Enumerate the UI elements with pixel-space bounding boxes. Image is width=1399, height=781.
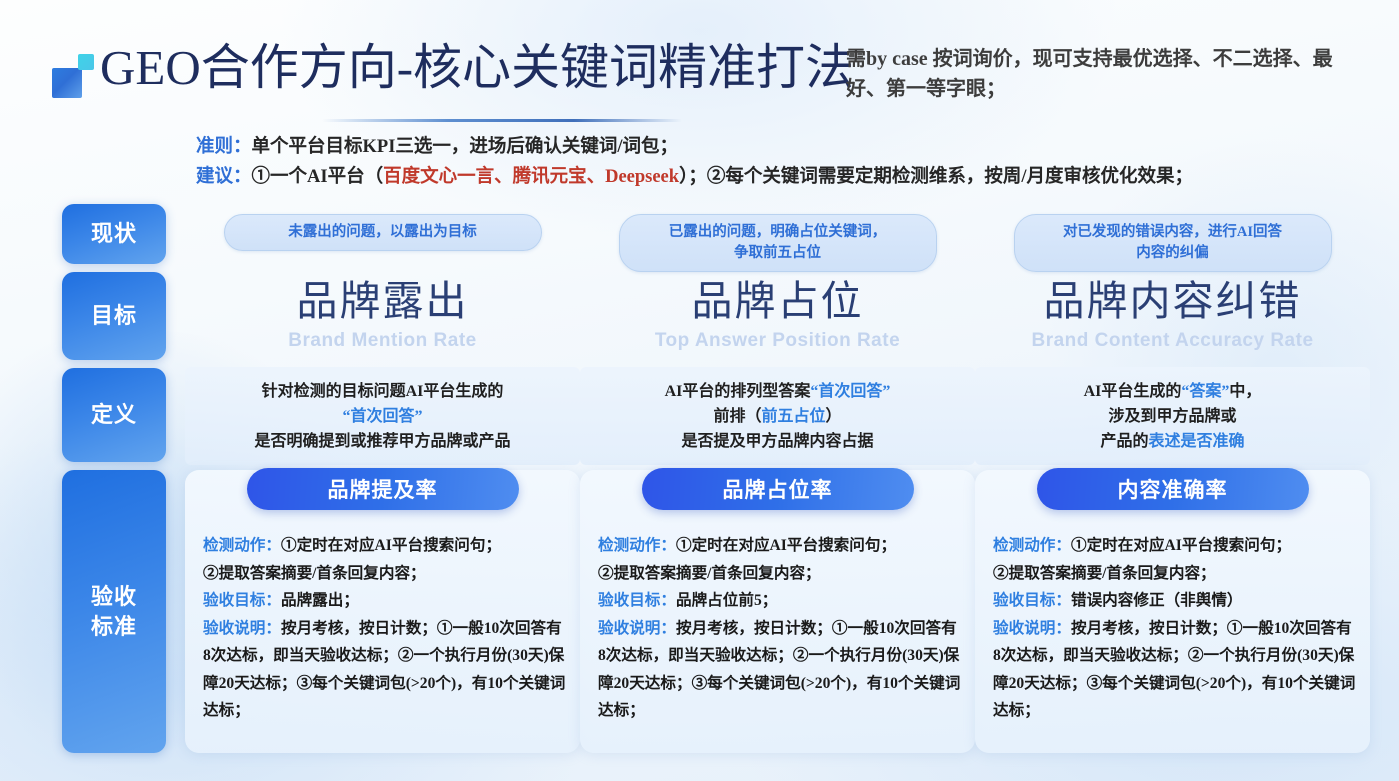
guideline-advice-part2: ）；②每个关键词需要定期检测维系，按周/月度审核优化效果； (679, 167, 1193, 187)
definition-text: 中， (1229, 383, 1261, 400)
criteria-label: 检测动作： (203, 537, 281, 554)
criteria-text: ②提取答案摘要/首条回复内容； (598, 565, 821, 582)
goal-title-cn: 品牌占位 (580, 276, 975, 326)
goal-title-en: Brand Content Accuracy Rate (975, 328, 1370, 354)
criteria-text: 品牌露出； (281, 592, 359, 609)
definition-text-highlight: “答案” (1181, 383, 1229, 400)
criteria-card: 内容准确率 检测动作：①定时在对应AI平台搜索问句； ②提取答案摘要/首条回复内… (975, 470, 1370, 753)
criteria-row: 验收说明：按月考核，按日计数；①一般10次回答有8次达标，即当天验收达标；②一个… (993, 615, 1356, 725)
criteria-card: 品牌提及率 检测动作：①定时在对应AI平台搜索问句； ②提取答案摘要/首条回复内… (185, 470, 580, 753)
goal-block: 品牌露出 Brand Mention Rate (185, 276, 580, 354)
definition-text: 产品的 (1100, 433, 1148, 450)
definition-text: AI平台生成的 (1084, 383, 1182, 400)
criteria-text: 品牌占位前5； (676, 592, 777, 609)
definition-line: AI平台生成的“答案”中， (1084, 379, 1262, 404)
sidebar-item-status[interactable]: 现状 (62, 204, 166, 264)
criteria-label: 验收说明： (993, 620, 1071, 637)
logo-square-large (52, 68, 82, 98)
criteria-label: 验收说明： (203, 620, 281, 637)
definition-text-highlight: “首次回答” (810, 383, 890, 400)
criteria-row: 验收说明：按月考核，按日计数；①一般10次回答有8次达标，即当天验收达标；②一个… (598, 615, 961, 725)
criteria-label: 检测动作： (993, 537, 1071, 554)
definition-line: 产品的表述是否准确 (1100, 429, 1244, 454)
sidebar-item-definition[interactable]: 定义 (62, 368, 166, 462)
goal-title-en: Top Answer Position Rate (580, 328, 975, 354)
definition-line: 前排（前五占位） (713, 404, 841, 429)
criteria-row: 检测动作：①定时在对应AI平台搜索问句； (993, 532, 1356, 560)
criteria-body: 检测动作：①定时在对应AI平台搜索问句； ②提取答案摘要/首条回复内容； 验收目… (203, 532, 566, 725)
sidebar-item-goal[interactable]: 目标 (62, 272, 166, 360)
definition-line: 针对检测的目标问题AI平台生成的 (262, 379, 504, 404)
criteria-body: 检测动作：①定时在对应AI平台搜索问句； ②提取答案摘要/首条回复内容； 验收目… (993, 532, 1356, 725)
criteria-row: 验收目标：错误内容修正（非舆情） (993, 587, 1356, 615)
definition-box: AI平台的排列型答案“首次回答” 前排（前五占位） 是否提及甲方品牌内容占据 (580, 367, 975, 465)
guideline-advice-brands: 百度文心一言、腾讯元宝、Deepseek (383, 167, 679, 187)
criteria-text: ①定时在对应AI平台搜索问句； (281, 537, 501, 554)
guideline-advice-part1: ①一个AI平台（ (252, 167, 384, 187)
sidebar-item-label: 定义 (91, 400, 137, 430)
goal-title-cn: 品牌内容纠错 (975, 276, 1370, 326)
guideline-advice-row: 建议：①一个AI平台（百度文心一言、腾讯元宝、Deepseek）；②每个关键词需… (196, 162, 1366, 192)
definition-line: AI平台的排列型答案“首次回答” (665, 379, 891, 404)
logo-square-small (78, 54, 94, 70)
criteria-row: 检测动作：①定时在对应AI平台搜索问句； (203, 532, 566, 560)
slide-header: GEO合作方向-核心关键词精准打法 需by case 按词询价，现可支持最优选择… (0, 0, 1399, 122)
criteria-row: 验收目标：品牌占位前5； (598, 587, 961, 615)
status-badge: 对已发现的错误内容，进行AI回答 内容的纠偏 (1014, 214, 1332, 272)
definition-text: 前排（ (713, 408, 761, 425)
guideline-rule-text: 单个平台目标KPI三选一，进场后确认关键词/词包； (252, 137, 679, 157)
definition-box: AI平台生成的“答案”中， 涉及到甲方品牌或 产品的表述是否准确 (975, 367, 1370, 465)
criteria-row: ②提取答案摘要/首条回复内容； (598, 560, 961, 588)
sidebar-item-criteria[interactable]: 验收 标准 (62, 470, 166, 753)
guideline-rule-label: 准则： (196, 137, 252, 157)
header-note: 需by case 按词询价，现可支持最优选择、不二选择、最好、第一等字眼； (846, 44, 1346, 104)
sidebar-item-label: 现状 (91, 219, 137, 249)
criteria-label: 验收目标： (598, 592, 676, 609)
criteria-text: ①定时在对应AI平台搜索问句； (1071, 537, 1291, 554)
criteria-label: 验收目标： (203, 592, 281, 609)
criteria-card: 品牌占位率 检测动作：①定时在对应AI平台搜索问句； ②提取答案摘要/首条回复内… (580, 470, 975, 753)
title-underline (322, 119, 682, 122)
guideline-rule-row: 准则：单个平台目标KPI三选一，进场后确认关键词/词包； (196, 132, 1366, 162)
definition-text-highlight: 前五占位 (761, 408, 825, 425)
criteria-text: ②提取答案摘要/首条回复内容； (203, 565, 426, 582)
criteria-row: ②提取答案摘要/首条回复内容； (993, 560, 1356, 588)
status-badge: 未露出的问题，以露出为目标 (224, 214, 542, 251)
criteria-label: 验收说明： (598, 620, 676, 637)
sidebar-item-label: 目标 (91, 301, 137, 331)
goal-title-en: Brand Mention Rate (185, 328, 580, 354)
guideline-advice-label: 建议： (196, 167, 252, 187)
status-badge: 已露出的问题，明确占位关键词， 争取前五占位 (619, 214, 937, 272)
criteria-row: 验收说明：按月考核，按日计数；①一般10次回答有8次达标，即当天验收达标；②一个… (203, 615, 566, 725)
guideline-block: 准则：单个平台目标KPI三选一，进场后确认关键词/词包； 建议：①一个AI平台（… (196, 132, 1366, 192)
definition-text: ） (826, 408, 842, 425)
definition-line-highlight: “首次回答” (342, 404, 422, 429)
criteria-body: 检测动作：①定时在对应AI平台搜索问句； ②提取答案摘要/首条回复内容； 验收目… (598, 532, 961, 725)
definition-line: 是否提及甲方品牌内容占据 (681, 429, 873, 454)
definition-text: AI平台的排列型答案 (665, 383, 811, 400)
criteria-pill[interactable]: 品牌占位率 (642, 468, 914, 510)
criteria-label: 检测动作： (598, 537, 676, 554)
brand-logo-icon (52, 54, 98, 98)
criteria-row: 验收目标：品牌露出； (203, 587, 566, 615)
goal-title-cn: 品牌露出 (185, 276, 580, 326)
criteria-label: 验收目标： (993, 592, 1071, 609)
definition-box: 针对检测的目标问题AI平台生成的 “首次回答” 是否明确提到或推荐甲方品牌或产品 (185, 367, 580, 465)
criteria-row: ②提取答案摘要/首条回复内容； (203, 560, 566, 588)
criteria-text: ②提取答案摘要/首条回复内容； (993, 565, 1216, 582)
goal-block: 品牌内容纠错 Brand Content Accuracy Rate (975, 276, 1370, 354)
definition-text-highlight: 表述是否准确 (1149, 433, 1245, 450)
criteria-pill[interactable]: 内容准确率 (1037, 468, 1309, 510)
criteria-pill[interactable]: 品牌提及率 (247, 468, 519, 510)
definition-line: 涉及到甲方品牌或 (1108, 404, 1236, 429)
slide-root: GEO合作方向-核心关键词精准打法 需by case 按词询价，现可支持最优选择… (0, 0, 1399, 781)
page-title: GEO合作方向-核心关键词精准打法 (100, 38, 854, 98)
criteria-row: 检测动作：①定时在对应AI平台搜索问句； (598, 532, 961, 560)
definition-line: 是否明确提到或推荐甲方品牌或产品 (254, 429, 510, 454)
criteria-text: ①定时在对应AI平台搜索问句； (676, 537, 896, 554)
criteria-text: 错误内容修正（非舆情） (1071, 592, 1243, 609)
goal-block: 品牌占位 Top Answer Position Rate (580, 276, 975, 354)
sidebar-item-label: 验收 标准 (91, 582, 137, 642)
